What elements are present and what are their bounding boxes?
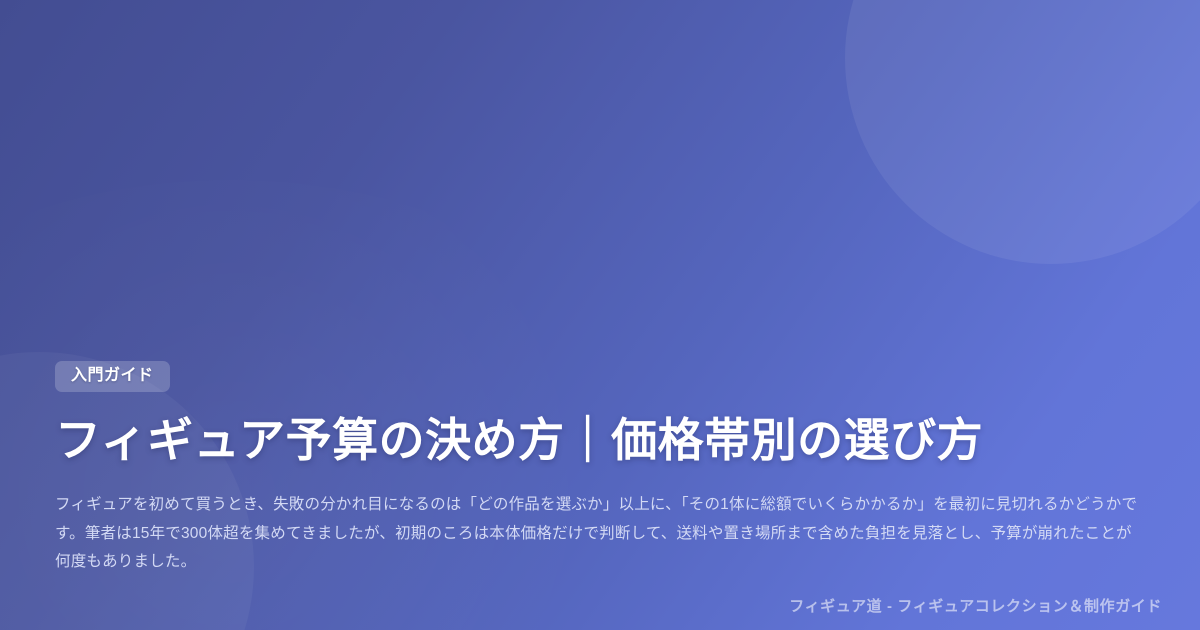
og-card: 入門ガイド フィギュア予算の決め方｜価格帯別の選び方 フィギュアを初めて買うとき…	[0, 0, 1200, 630]
category-badge: 入門ガイド	[55, 361, 170, 392]
card-content: 入門ガイド フィギュア予算の決め方｜価格帯別の選び方 フィギュアを初めて買うとき…	[0, 0, 1200, 630]
site-name: フィギュア道 - フィギュアコレクション＆制作ガイド	[789, 595, 1162, 616]
page-title: フィギュア予算の決め方｜価格帯別の選び方	[55, 412, 1145, 469]
article-summary: フィギュアを初めて買うとき、失敗の分かれ目になるのは「どの作品を選ぶか」以上に、…	[55, 491, 1145, 576]
